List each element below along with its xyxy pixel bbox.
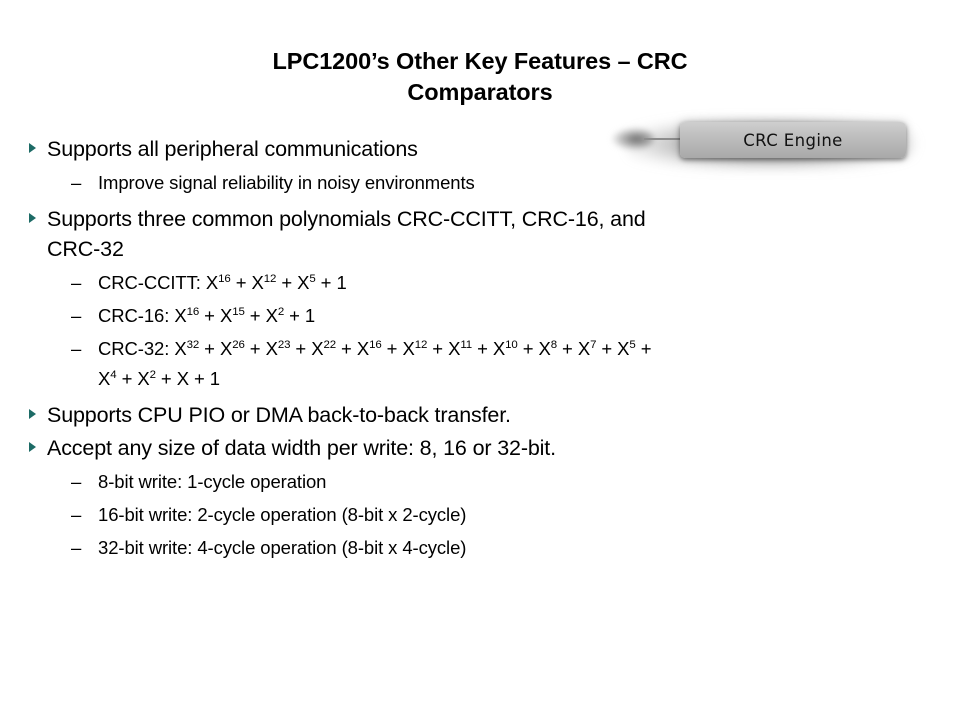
operator-plus: + <box>432 338 443 359</box>
triangle-right-icon <box>29 409 36 419</box>
term-x: X <box>493 338 505 359</box>
operator-plus: + <box>601 338 612 359</box>
exponent: 16 <box>187 305 200 317</box>
operator-plus: + <box>250 338 261 359</box>
operator-plus: + <box>161 368 172 389</box>
polynomial-label: CRC-16: <box>98 305 169 326</box>
term-x: X <box>220 305 232 326</box>
term-x: X <box>402 338 414 359</box>
polynomial-label: CRC-32: <box>98 338 169 359</box>
bullet-text: 8-bit write: 1-cycle operation <box>98 471 326 492</box>
exponent: 16 <box>369 338 382 350</box>
operator-plus: + <box>641 338 652 359</box>
operator-plus: + <box>387 338 398 359</box>
exponent: 4 <box>110 368 116 380</box>
operator-plus: + <box>281 272 292 293</box>
exponent: 10 <box>505 338 518 350</box>
exponent: 5 <box>309 272 315 284</box>
exponent: 22 <box>323 338 336 350</box>
bullet-item-improve-reliability: – Improve signal reliability in noisy en… <box>0 168 960 198</box>
triangle-right-icon <box>29 143 36 153</box>
exponent: 2 <box>278 305 284 317</box>
term-x: X <box>251 272 263 293</box>
term-x: X <box>448 338 460 359</box>
operator-plus: + <box>204 338 215 359</box>
en-dash-icon: – <box>71 301 81 331</box>
bullet-text: Accept any size of data width per write:… <box>47 436 556 460</box>
operator-plus: + <box>122 368 133 389</box>
exponent: 12 <box>264 272 277 284</box>
bullet-item-crc-32: – CRC-32: X32 + X26 + X23 + X22 + X16 + … <box>0 334 960 394</box>
term-x: X <box>266 305 278 326</box>
bullet-text-line-1: Supports three common polynomials CRC-CC… <box>47 207 646 231</box>
bullet-text: 16-bit write: 2-cycle operation (8-bit x… <box>98 504 466 525</box>
term-x: X <box>174 305 186 326</box>
exponent: 15 <box>232 305 245 317</box>
en-dash-icon: – <box>71 268 81 298</box>
term-x: X <box>220 338 232 359</box>
bullet-item-crc-16: – CRC-16: X16 + X15 + X2 + 1 <box>0 301 960 331</box>
bullet-text: Improve signal reliability in noisy envi… <box>98 172 475 193</box>
bullet-text: Supports all peripheral communications <box>47 137 418 161</box>
en-dash-icon: – <box>71 168 81 198</box>
term-x: X <box>311 338 323 359</box>
exponent: 11 <box>460 338 472 350</box>
en-dash-icon: – <box>71 500 81 530</box>
exponent: 8 <box>551 338 557 350</box>
bullet-item-32bit-write: – 32-bit write: 4-cycle operation (8-bit… <box>0 533 960 563</box>
polynomial-expression: X16 + X15 + X2 + 1 <box>174 305 315 326</box>
term-constant: 1 <box>336 272 346 293</box>
bullet-item-crc-ccitt: – CRC-CCITT: X16 + X12 + X5 + 1 <box>0 268 960 298</box>
exponent: 16 <box>218 272 231 284</box>
operator-plus: + <box>341 338 352 359</box>
exponent: 26 <box>232 338 245 350</box>
bullet-text: 32-bit write: 4-cycle operation (8-bit x… <box>98 537 466 558</box>
term-x: X <box>357 338 369 359</box>
bullet-item-three-polynomials: Supports three common polynomials CRC-CC… <box>0 204 960 265</box>
exponent: 2 <box>150 368 156 380</box>
exponent: 7 <box>590 338 596 350</box>
operator-plus: + <box>321 272 332 293</box>
en-dash-icon: – <box>71 467 81 497</box>
term-x: X <box>538 338 550 359</box>
triangle-right-icon <box>29 442 36 452</box>
term-constant: 1 <box>305 305 315 326</box>
operator-plus: + <box>477 338 488 359</box>
bullet-item-data-width: Accept any size of data width per write:… <box>0 433 960 464</box>
exponent: 23 <box>278 338 291 350</box>
polynomial-expression: X16 + X12 + X5 + 1 <box>206 272 347 293</box>
term-constant: 1 <box>210 368 220 389</box>
term-x: X <box>206 272 218 293</box>
bullet-item-8bit-write: – 8-bit write: 1-cycle operation <box>0 467 960 497</box>
slide-title-line-1: LPC1200’s Other Key Features – CRC <box>273 48 688 74</box>
slide-body: Supports all peripheral communications –… <box>0 134 960 563</box>
bullet-text: Supports CPU PIO or DMA back-to-back tra… <box>47 403 511 427</box>
exponent: 5 <box>629 338 635 350</box>
term-x: X <box>266 338 278 359</box>
operator-plus: + <box>523 338 534 359</box>
term-x: X <box>98 368 110 389</box>
slide-title-line-2: Comparators <box>407 79 552 105</box>
exponent: 32 <box>187 338 200 350</box>
polynomial-label: CRC-CCITT: <box>98 272 201 293</box>
exponent: 12 <box>415 338 428 350</box>
bullet-item-supports-peripheral: Supports all peripheral communications <box>0 134 960 165</box>
en-dash-icon: – <box>71 334 81 364</box>
operator-plus: + <box>250 305 261 326</box>
operator-plus: + <box>236 272 247 293</box>
term-x: X <box>137 368 149 389</box>
bullet-item-cpu-pio-dma: Supports CPU PIO or DMA back-to-back tra… <box>0 400 960 431</box>
term-x: X <box>578 338 590 359</box>
term-x: X <box>297 272 309 293</box>
slide-title: LPC1200’s Other Key Features – CRC Compa… <box>110 46 850 108</box>
polynomial-expression: X32 + X26 + X23 + X22 + X16 + X12 + X11 … <box>98 338 651 389</box>
term-x: X <box>617 338 629 359</box>
operator-plus: + <box>562 338 573 359</box>
bullet-text-line-2: CRC-32 <box>47 237 124 261</box>
triangle-right-icon <box>29 213 36 223</box>
term-x: X <box>177 368 189 389</box>
bullet-item-16bit-write: – 16-bit write: 2-cycle operation (8-bit… <box>0 500 960 530</box>
slide-canvas: LPC1200’s Other Key Features – CRC Compa… <box>0 0 960 720</box>
operator-plus: + <box>204 305 215 326</box>
term-x: X <box>174 338 186 359</box>
operator-plus: + <box>194 368 205 389</box>
operator-plus: + <box>295 338 306 359</box>
operator-plus: + <box>289 305 300 326</box>
en-dash-icon: – <box>71 533 81 563</box>
